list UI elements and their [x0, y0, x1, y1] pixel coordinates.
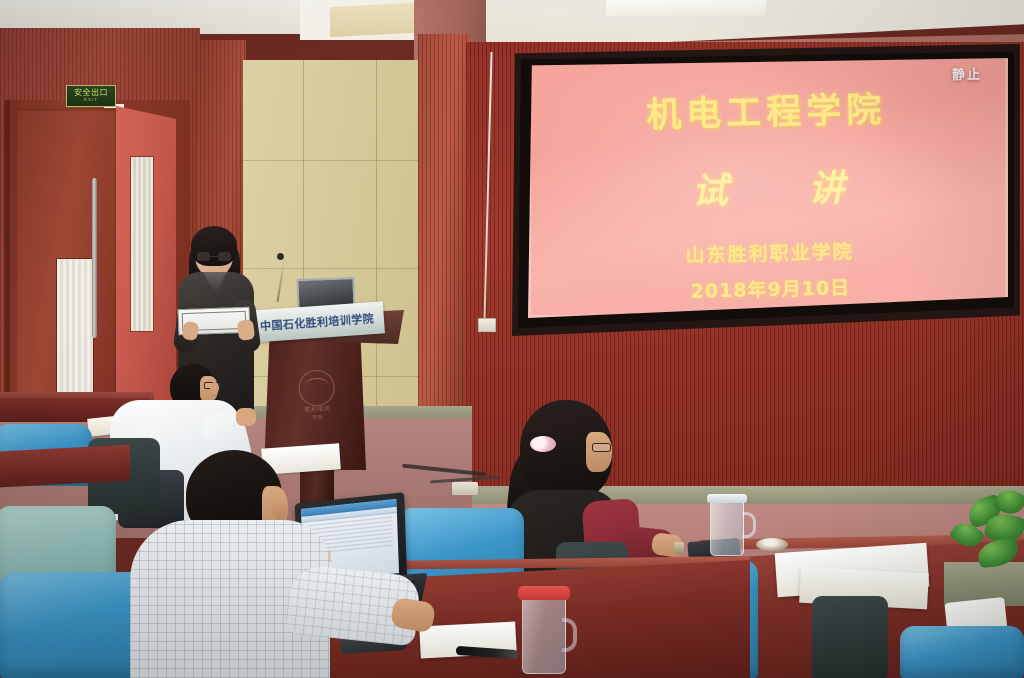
wall-column-right	[418, 34, 470, 454]
tea-mug[interactable]	[710, 500, 744, 556]
metal-cup-lid[interactable]	[756, 538, 788, 551]
chair-dark-right-2[interactable]	[812, 596, 888, 678]
emblem-wave	[304, 378, 329, 395]
projector-freeze-indicator: 静止	[952, 64, 982, 83]
slide-content: 机电工程学院 试 讲 山东胜利职业学院 2018年9月10日	[528, 56, 1008, 318]
slide-subtitle: 试 讲	[657, 158, 879, 215]
emergency-exit-sign: 安全出口 EXIT	[66, 85, 116, 107]
presenter-hand-right	[237, 319, 256, 341]
exit-sign-label-zh: 安全出口	[74, 89, 108, 97]
attendee4-hair-tie	[530, 436, 556, 452]
chair-blue-left-lower[interactable]	[0, 572, 150, 678]
table-mid-left	[0, 445, 130, 488]
door-handle[interactable]	[92, 178, 97, 338]
floor-socket-plate[interactable]	[452, 482, 478, 495]
attendee4-wristwatch	[674, 542, 684, 554]
door-open-glass-panel	[130, 156, 154, 332]
chair-far-right[interactable]	[900, 626, 1024, 678]
photo-scene: 安全出口 EXIT 机电工程学院 试 讲 山东胜利职业学院 2018年9月10日…	[0, 0, 1024, 678]
exit-sign-label-en: EXIT	[84, 97, 98, 103]
tea-mug-lid[interactable]	[707, 494, 747, 503]
presenter-glasses-icon	[197, 252, 231, 261]
projection-screen-surface: 机电工程学院 试 讲 山东胜利职业学院 2018年9月10日 静止	[528, 56, 1008, 318]
emblem-label-2: 学院	[294, 413, 342, 422]
attendee1-hand	[236, 408, 256, 426]
ceiling-light-strip	[606, 0, 766, 16]
podium-banner-label: 中国石化胜利培训学院	[260, 310, 375, 334]
slide-title: 机电工程学院	[646, 81, 887, 138]
podium-emblem: 胜利培训 学院	[292, 367, 342, 431]
attendee3-ear	[272, 496, 288, 520]
slide-date: 2018年9月10日	[690, 273, 850, 304]
thermos-red-lid[interactable]	[518, 586, 570, 600]
slide-organization: 山东胜利职业学院	[685, 237, 854, 268]
attendee1-ear	[210, 382, 219, 394]
tea-mug-handle	[742, 512, 756, 538]
attendee4-face	[586, 432, 612, 472]
attendee4-glasses-icon	[592, 443, 611, 452]
microphone-icon	[277, 253, 284, 260]
door-leaf-closed[interactable]	[14, 108, 118, 428]
wall-outlet[interactable]	[478, 318, 496, 332]
thermos-mug[interactable]	[522, 592, 566, 674]
emblem-label-1: 胜利培训	[293, 403, 341, 414]
